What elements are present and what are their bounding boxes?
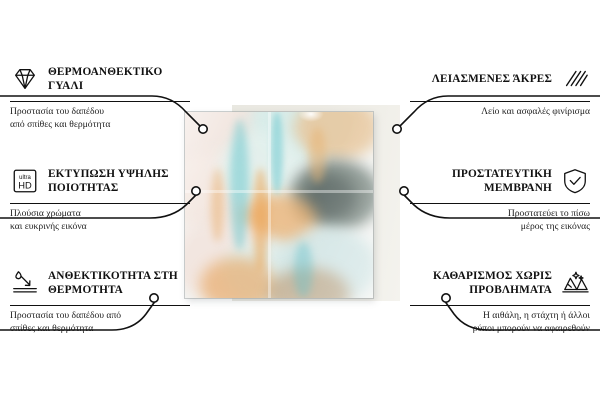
feature-description-line: Πλούσια χρώματα: [10, 208, 190, 221]
feature-title: ΘΕΡΜΟΑΝΘΕΚΤΙΚΟ ΓΥΑΛΙ: [48, 65, 190, 94]
divider: [410, 305, 590, 306]
feature-header: ΠΡΟΣΤΑΤΕΥΤΙΚΗ ΜΕΜΒΡΑΝΗ: [410, 164, 590, 198]
feature-description: Πλούσια χρώματα και ευκρινής εικόνα: [10, 208, 190, 234]
glass-mullion-vertical: [268, 112, 271, 298]
feature-heat-resistance: ΑΝΘΕΚΤΙΚΟΤΗΤΑ ΣΤΗ ΘΕΡΜΟΤΗΤΑ Προστασία το…: [10, 266, 190, 336]
feature-easy-cleaning: ΚΑΘΑΡΙΣΜΟΣ ΧΩΡΙΣ ΠΡΟΒΛΗΜΑΤΑ Η αιθάλη, η …: [410, 266, 590, 336]
product-image-stage: [180, 105, 400, 301]
feature-title: ΛΕΙΑΣΜΕΝΕΣ ΆΚΡΕΣ: [432, 72, 552, 86]
feature-title: ΕΚΤΥΠΩΣΗ ΥΨΗΛΗΣ ΠΟΙΟΤΗΤΑΣ: [48, 167, 190, 196]
divider: [10, 305, 190, 306]
divider: [10, 203, 190, 204]
diamond-icon: [10, 65, 40, 93]
glass-panel-image: [185, 112, 373, 298]
feature-description: Προστασία του δαπέδου από σπίθες και θερ…: [10, 106, 190, 132]
feature-header: ΛΕΙΑΣΜΕΝΕΣ ΆΚΡΕΣ: [410, 62, 590, 96]
divider: [10, 101, 190, 102]
divider: [410, 101, 590, 102]
feature-description: Λείο και ασφαλές φινίρισμα: [410, 106, 590, 119]
feature-header: ΚΑΘΑΡΙΣΜΟΣ ΧΩΡΙΣ ΠΡΟΒΛΗΜΑΤΑ: [410, 266, 590, 300]
feature-description: Η αιθάλη, η στάχτη ή άλλοι ρύποι μπορούν…: [410, 310, 590, 336]
feature-polished-edges: ΛΕΙΑΣΜΕΝΕΣ ΆΚΡΕΣ Λείο και ασφαλές φινίρι…: [410, 62, 590, 119]
polished-edges-icon: [560, 65, 590, 93]
feature-description: Προστατεύει το πίσω μέρος της εικόνας: [410, 208, 590, 234]
feature-title: ΚΑΘΑΡΙΣΜΟΣ ΧΩΡΙΣ ΠΡΟΒΛΗΜΑΤΑ: [410, 269, 552, 298]
product-feature-infographic: ΘΕΡΜΟΑΝΘΕΚΤΙΚΟ ΓΥΑΛΙ Προστασία του δαπέδ…: [0, 0, 600, 400]
feature-description-line: Προστασία του δαπέδου: [10, 106, 190, 119]
feature-description-line: και ευκρινής εικόνα: [10, 221, 190, 234]
feature-description-line: από σπίθες και θερμότητα: [10, 119, 190, 132]
shield-check-icon: [560, 167, 590, 195]
feature-description-line: σπίθες και θερμότητα: [10, 323, 190, 336]
feature-description-line: μέρος της εικόνας: [410, 221, 590, 234]
feature-description: Προστασία του δαπέδου από σπίθες και θερ…: [10, 310, 190, 336]
feature-header: ΘΕΡΜΟΑΝΘΕΚΤΙΚΟ ΓΥΑΛΙ: [10, 62, 190, 96]
feature-header: ultra HD ΕΚΤΥΠΩΣΗ ΥΨΗΛΗΣ ΠΟΙΟΤΗΤΑΣ: [10, 164, 190, 198]
divider: [410, 203, 590, 204]
heat-resistance-icon: [10, 269, 40, 297]
glass-glare-highlight: [298, 112, 324, 122]
feature-title: ΠΡΟΣΤΑΤΕΥΤΙΚΗ ΜΕΜΒΡΑΝΗ: [410, 167, 552, 196]
glass-mullion-horizontal: [185, 190, 373, 193]
feature-description-line: Η αιθάλη, η στάχτη ή άλλοι: [410, 310, 590, 323]
easy-cleaning-icon: [560, 269, 590, 297]
ultra-hd-icon: ultra HD: [10, 167, 40, 195]
feature-header: ΑΝΘΕΚΤΙΚΟΤΗΤΑ ΣΤΗ ΘΕΡΜΟΤΗΤΑ: [10, 266, 190, 300]
feature-description-line: Προστατεύει το πίσω: [410, 208, 590, 221]
feature-title: ΑΝΘΕΚΤΙΚΟΤΗΤΑ ΣΤΗ ΘΕΡΜΟΤΗΤΑ: [48, 269, 190, 298]
connector-dot: [400, 187, 408, 195]
ultra-hd-icon-bottom-text: HD: [18, 180, 32, 190]
feature-description-line: Λείο και ασφαλές φινίρισμα: [410, 106, 590, 119]
feature-protective-film: ΠΡΟΣΤΑΤΕΥΤΙΚΗ ΜΕΜΒΡΑΝΗ Προστατεύει το πί…: [410, 164, 590, 234]
feature-description-line: ρύποι μπορούν να αφαιρεθούν: [410, 323, 590, 336]
feature-high-quality-print: ultra HD ΕΚΤΥΠΩΣΗ ΥΨΗΛΗΣ ΠΟΙΟΤΗΤΑΣ Πλούσ…: [10, 164, 190, 234]
feature-heat-resistant-glass: ΘΕΡΜΟΑΝΘΕΚΤΙΚΟ ΓΥΑΛΙ Προστασία του δαπέδ…: [10, 62, 190, 132]
feature-description-line: Προστασία του δαπέδου από: [10, 310, 190, 323]
marble-ink-pattern: [185, 112, 373, 298]
